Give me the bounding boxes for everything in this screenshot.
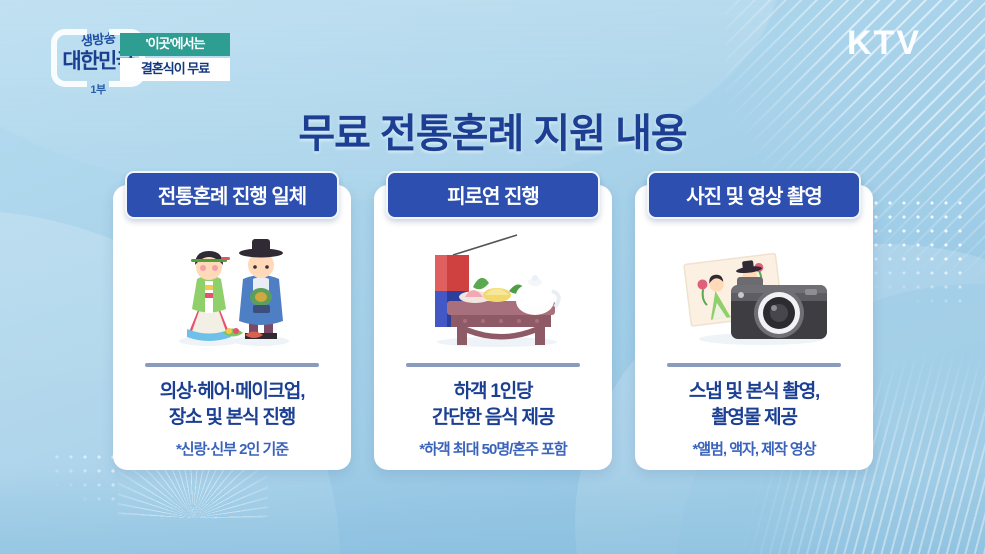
traditional-wedding-couple-icon: [137, 227, 327, 349]
info-card-text: 하객 1인당 간단한 음식 제공: [432, 379, 554, 431]
info-card-header: 전통혼례 진행 일체: [125, 171, 339, 219]
korean-banquet-table-icon: [398, 227, 588, 349]
info-card-header: 사진 및 영상 촬영: [647, 171, 861, 219]
info-card-note: *앨범, 액자, 제작 영상: [692, 438, 815, 459]
topic-badge-top: '이곳'에서는: [120, 33, 230, 56]
topic-badge-bottom: 결혼식이 무료: [120, 58, 230, 81]
info-card-row: 전통혼례 진행 일체: [113, 185, 873, 470]
info-card-reception: 피로연 진행: [374, 185, 612, 470]
info-card-text-line2: 장소 및 본식 진행: [160, 405, 305, 431]
topic-badge-group: '이곳'에서는 결혼식이 무료: [120, 33, 230, 81]
info-card-text-line2: 촬영물 제공: [689, 405, 819, 431]
info-card-text: 스냅 및 본식 촬영, 촬영물 제공: [689, 379, 819, 431]
info-card-photo-video: 사진 및 영상 촬영: [635, 185, 873, 470]
info-card-text-line2: 간단한 음식 제공: [432, 405, 554, 431]
info-card-note: *하객 최대 50명/혼주 포함: [419, 438, 566, 459]
card-divider: [145, 363, 319, 367]
background-dot-grid-left: [50, 450, 120, 506]
info-card-text-line1: 의상·헤어·메이크업,: [160, 379, 305, 405]
page-title: 무료 전통혼례 지원 내용: [0, 101, 985, 159]
info-card-traditional-ceremony: 전통혼례 진행 일체: [113, 185, 351, 470]
card-divider: [667, 363, 841, 367]
broadcast-graphic-stage: 생방송 대한민국 1부 '이곳'에서는 결혼식이 무료 KTV 무료 전통혼례 …: [0, 0, 985, 554]
info-card-text-line1: 하객 1인당: [432, 379, 554, 405]
camera-and-photo-icon: [659, 227, 849, 349]
ktv-channel-watermark: KTV: [847, 24, 921, 63]
card-divider: [406, 363, 580, 367]
info-card-header: 피로연 진행: [386, 171, 600, 219]
info-card-text-line1: 스냅 및 본식 촬영,: [689, 379, 819, 405]
info-card-note: *신랑·신부 2인 기준: [176, 438, 288, 459]
info-card-text: 의상·헤어·메이크업, 장소 및 본식 진행: [160, 379, 305, 431]
